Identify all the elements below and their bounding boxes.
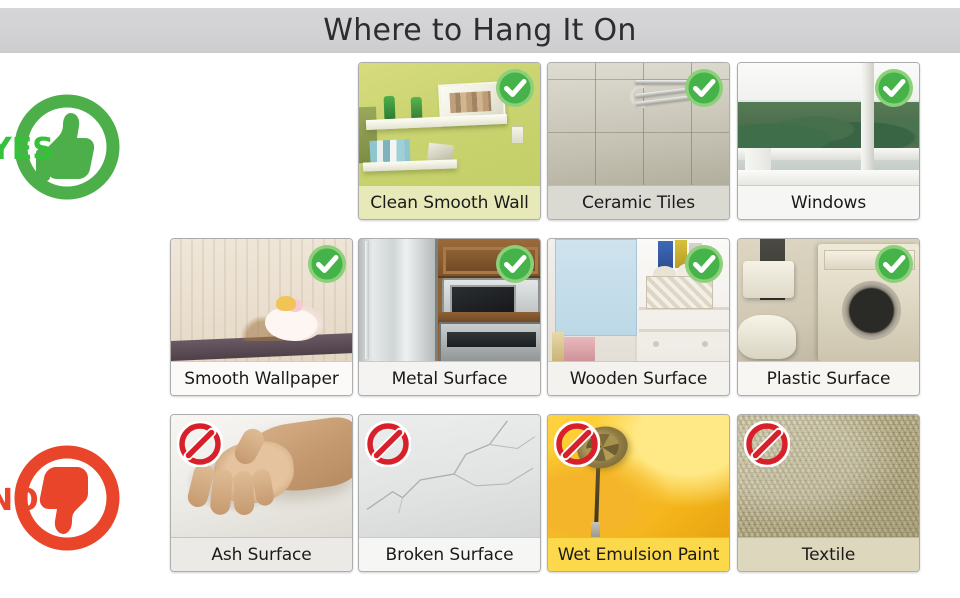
surface-card[interactable]: Broken Surface [358,414,541,572]
green-check-circle-icon [495,244,535,284]
surface-card-label: Smooth Wallpaper [171,361,352,395]
surface-card-label: Ceramic Tiles [548,185,729,219]
surface-card-photo [359,239,540,361]
surface-card-photo [548,239,729,361]
red-prohibition-icon [365,421,411,467]
surface-card-label: Clean Smooth Wall [359,185,540,219]
surface-card-label: Plastic Surface [738,361,919,395]
surface-card[interactable]: Ceramic Tiles [547,62,730,220]
surface-card[interactable]: Windows [737,62,920,220]
green-check-circle-icon [874,244,914,284]
page-title: Where to Hang It On [323,16,636,46]
surface-card-label: Metal Surface [359,361,540,395]
green-check-circle-icon [307,244,347,284]
surface-card-photo [548,63,729,185]
surface-card[interactable]: Ash Surface [170,414,353,572]
surface-card-label: Wooden Surface [548,361,729,395]
green-check-circle-icon [874,68,914,108]
surface-card-label: Windows [738,185,919,219]
verdict-yes-label: YES [0,132,54,167]
surface-card[interactable]: Clean Smooth Wall [358,62,541,220]
verdict-no-label: NO [0,483,39,518]
verdict-yes: YES [0,85,142,215]
red-prohibition-icon [177,421,223,467]
surface-card-photo [738,239,919,361]
surface-card-label: Wet Emulsion Paint [548,537,729,571]
surface-card-photo [738,415,919,537]
surface-card[interactable]: Textile [737,414,920,572]
surface-card-photo [359,63,540,185]
surface-card-photo [359,415,540,537]
surface-card[interactable]: Wooden Surface [547,238,730,396]
green-check-circle-icon [684,68,724,108]
surface-card[interactable]: Metal Surface [358,238,541,396]
green-check-circle-icon [495,68,535,108]
verdict-no: NO [0,436,142,566]
red-prohibition-icon [554,421,600,467]
green-check-circle-icon [684,244,724,284]
surface-card-photo [738,63,919,185]
surface-card[interactable]: Smooth Wallpaper [170,238,353,396]
surface-card-label: Textile [738,537,919,571]
surface-card-photo [171,239,352,361]
surface-card-label: Broken Surface [359,537,540,571]
surface-card-photo [548,415,729,537]
surface-card-label: Ash Surface [171,537,352,571]
red-prohibition-icon [744,421,790,467]
page-header-band: Where to Hang It On [0,8,960,53]
surface-card[interactable]: Plastic Surface [737,238,920,396]
surface-card-photo [171,415,352,537]
surface-card[interactable]: Wet Emulsion Paint [547,414,730,572]
